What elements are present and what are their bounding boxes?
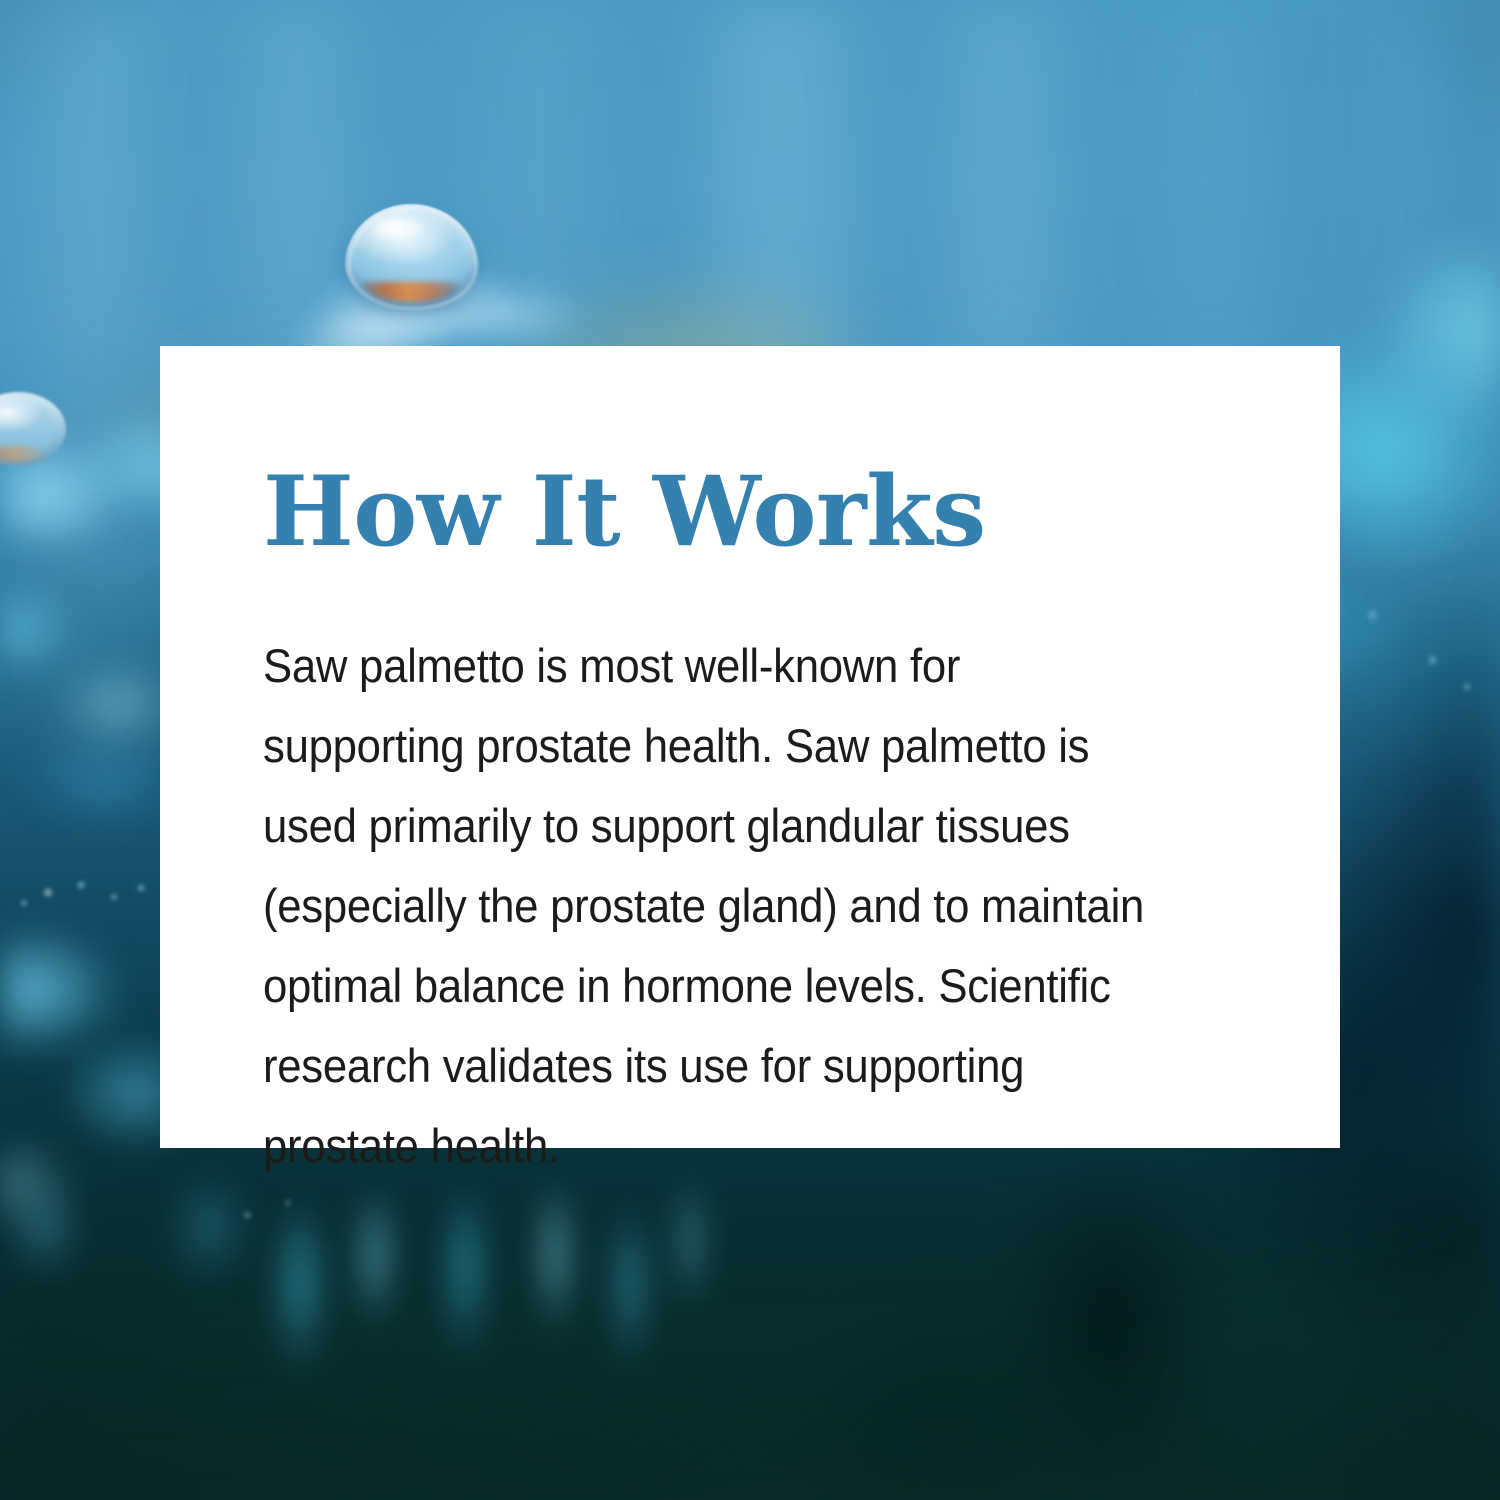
product-info-graphic: How It Works Saw palmetto is most well-k… bbox=[0, 0, 1500, 1500]
body-paragraph: Saw palmetto is most well-known for supp… bbox=[263, 560, 1172, 1186]
page-title: How It Works bbox=[263, 464, 1240, 560]
content-card: How It Works Saw palmetto is most well-k… bbox=[160, 346, 1340, 1148]
